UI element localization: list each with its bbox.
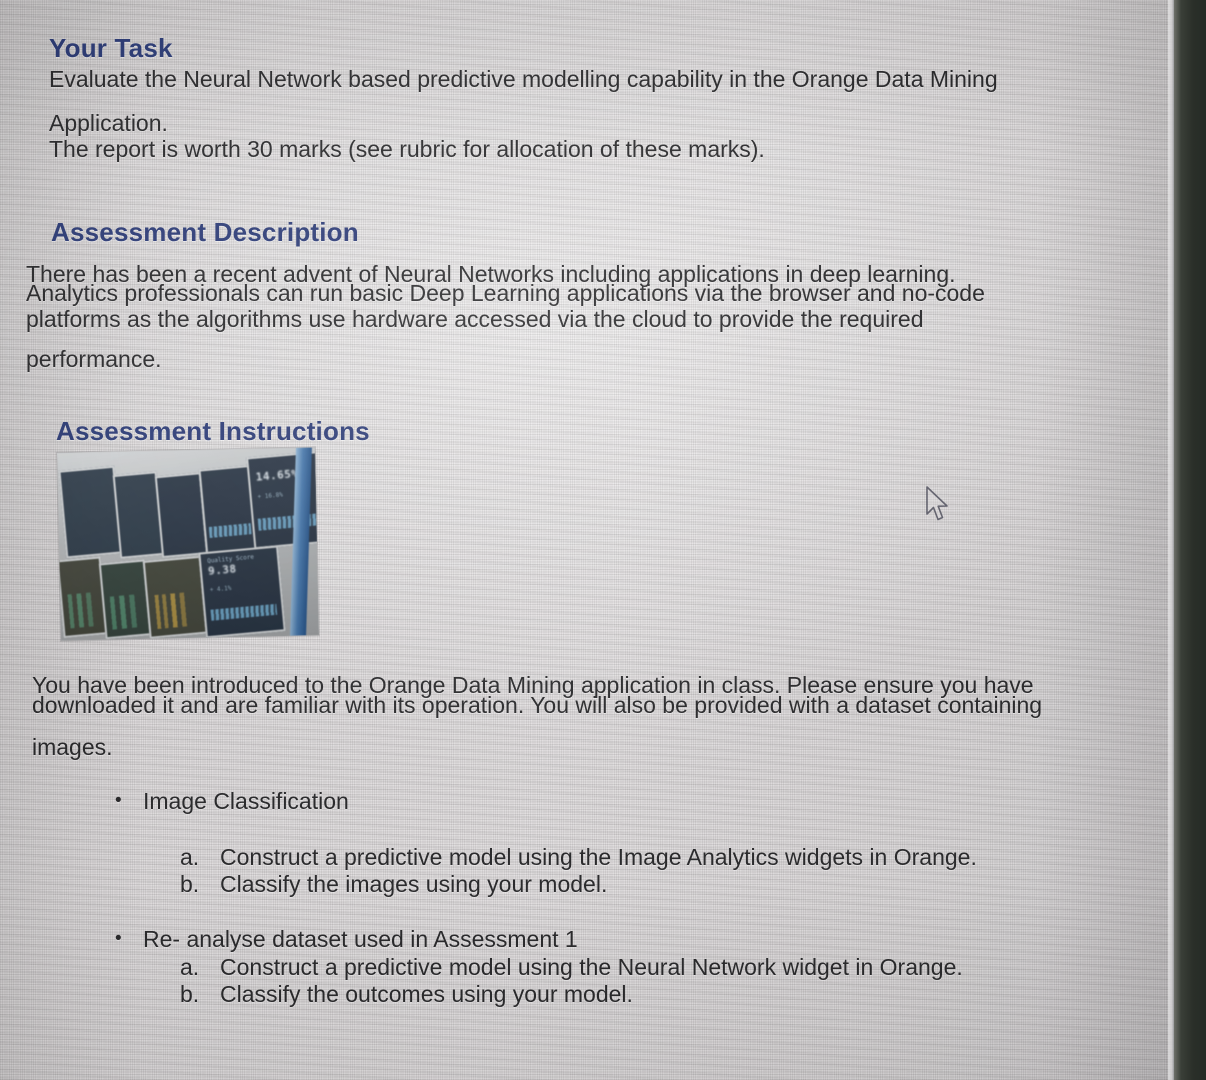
paragraph-description-line-3: platforms as the algorithms use hardware…	[26, 304, 923, 334]
list-item-image-classification: •Image Classification	[115, 786, 349, 816]
figure-tile-delta: + 4.1%	[209, 585, 231, 594]
sub-list-item-1b: b.Classify the images using your model.	[180, 869, 607, 899]
figure-sparkline	[209, 523, 252, 538]
figure-sparkline	[210, 604, 278, 621]
sub-list-marker: b.	[180, 979, 220, 1009]
figure-bar-chart	[152, 592, 200, 629]
paragraph-description-line-4: performance.	[26, 344, 162, 374]
heading-your-task: Your Task	[49, 33, 173, 64]
list-item-label: Image Classification	[143, 788, 349, 814]
figure-bar-chart	[107, 594, 145, 629]
sub-list-item-2b: b.Classify the outcomes using your model…	[180, 979, 633, 1009]
figure-tile-value: 9.38	[208, 563, 238, 579]
bullet-icon: •	[115, 924, 143, 954]
bullet-icon: •	[115, 786, 143, 816]
list-item-label: Re- analyse dataset used in Assessment 1	[143, 926, 578, 952]
figure-tile	[143, 556, 208, 639]
paragraph-your-task-line-1: Evaluate the Neural Network based predic…	[49, 64, 1059, 94]
background-dark-area	[1174, 0, 1206, 1080]
figure-tile-value: 14.65%	[255, 467, 299, 484]
sub-list-item-2a: a.Construct a predictive model using the…	[180, 952, 963, 982]
figure-photo-inner: 14.65% + 16.8% Quality Score 9.38	[57, 447, 319, 640]
heading-assessment-instructions: Assessment Instructions	[56, 416, 370, 447]
sub-list-item-label: Classify the outcomes using your model.	[220, 981, 633, 1007]
paragraph-instructions-line-3: images.	[32, 732, 113, 762]
paragraph-instructions-line-2: downloaded it and are familiar with its …	[32, 690, 1042, 720]
figure-sparkline	[258, 513, 319, 531]
sub-list-marker: a.	[180, 952, 220, 982]
sub-list-item-label: Construct a predictive model using the N…	[220, 954, 963, 980]
sub-list-item-label: Classify the images using your model.	[220, 871, 607, 897]
sub-list-item-label: Construct a predictive model using the I…	[220, 844, 977, 870]
sub-list-marker: a.	[180, 842, 220, 872]
figure-tile-quality: Quality Score 9.38 + 4.1%	[198, 545, 285, 638]
figure-bar-chart	[65, 592, 102, 628]
list-item-reanalyse-dataset: •Re- analyse dataset used in Assessment …	[115, 924, 578, 954]
paragraph-your-task-line-3: The report is worth 30 marks (see rubric…	[49, 134, 765, 164]
heading-assessment-description: Assessment Description	[51, 217, 359, 248]
sub-list-marker: b.	[180, 869, 220, 899]
sub-list-item-1a: a.Construct a predictive model using the…	[180, 842, 977, 872]
screenshot-root: Your Task Evaluate the Neural Network ba…	[0, 0, 1206, 1080]
figure-dashboard-photo: 14.65% + 16.8% Quality Score 9.38	[57, 447, 319, 640]
document-content: Your Task Evaluate the Neural Network ba…	[0, 0, 1206, 1080]
figure-tile-delta: + 16.8%	[257, 492, 283, 501]
